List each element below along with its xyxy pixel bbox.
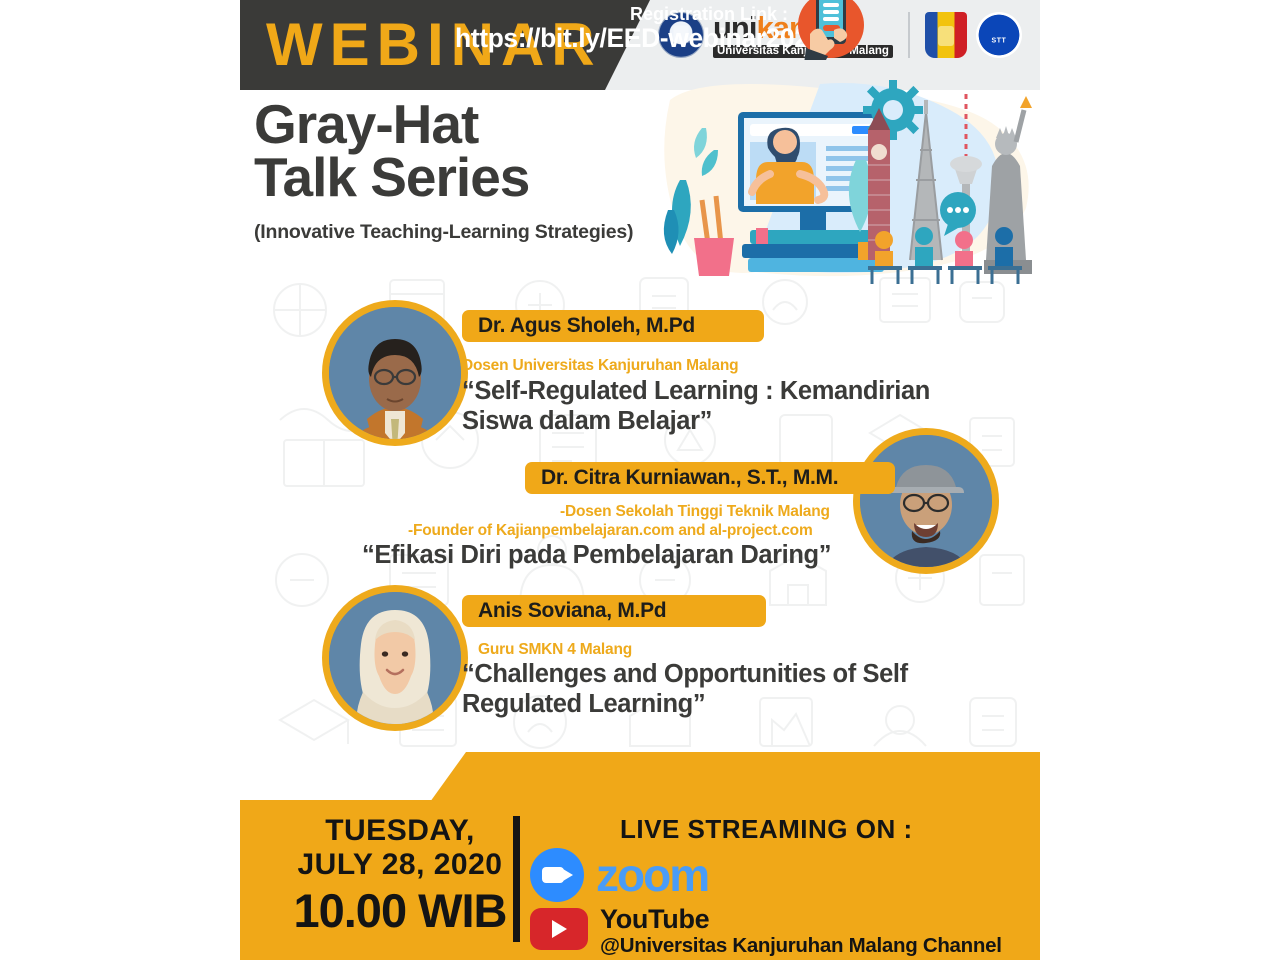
speaker-quote-1: “Self-Regulated Learning : Kemandirian S…: [462, 376, 992, 436]
title-line-2: Talk Series: [254, 151, 674, 204]
event-time: 10.00 WIB: [280, 883, 520, 939]
speaker-quote-1-line1: “Self-Regulated Learning : Kemandirian: [462, 376, 992, 406]
poster-footer: TUESDAY, JULY 28, 2020 10.00 WIB LIVE ST…: [240, 800, 1040, 960]
tablet-hand-icon: [796, 0, 866, 60]
event-day: TUESDAY,: [280, 814, 520, 848]
stt-malang-shield-icon: [925, 12, 967, 58]
speaker-affiliation-3: Guru SMKN 4 Malang: [478, 641, 632, 659]
youtube-channel-name: @Universitas Kanjuruhan Malang Channel: [600, 935, 1002, 957]
speaker-name-2: Dr. Citra Kurniawan., S.T., M.M.: [541, 466, 838, 490]
event-date-block: TUESDAY, JULY 28, 2020 10.00 WIB: [280, 814, 520, 940]
speaker-name-3: Anis Soviana, M.Pd: [478, 599, 666, 623]
speaker-name-1: Dr. Agus Sholeh, M.Pd: [478, 314, 695, 338]
logo-divider: [908, 12, 910, 58]
youtube-channel-row[interactable]: YouTube @Universitas Kanjuruhan Malang C…: [530, 905, 1002, 957]
footer-divider: [513, 816, 520, 942]
speaker-quote-3-line1: “Challenges and Opportunities of Self: [462, 659, 992, 689]
poster-title-block: Gray-Hat Talk Series (Innovative Teachin…: [254, 98, 674, 244]
speaker-name-bar-1: Dr. Agus Sholeh, M.Pd: [462, 310, 764, 342]
speaker-quote-2-line1: “Efikasi Diri pada Pembelajaran Daring”: [362, 540, 982, 570]
speaker-name-bar-2: Dr. Citra Kurniawan., S.T., M.M.: [525, 462, 895, 494]
event-date: JULY 28, 2020: [280, 848, 520, 882]
speaker-photo-agus-sholeh: [322, 300, 468, 446]
zoom-icon: [530, 848, 584, 902]
online-learning-illustration: [640, 70, 1040, 285]
speaker-quote-2: “Efikasi Diri pada Pembelajaran Daring”: [362, 540, 982, 570]
registration-banner: [430, 752, 1040, 802]
youtube-label: YouTube: [600, 905, 1002, 933]
stt-emblem-icon: [976, 12, 1022, 58]
title-line-1: Gray-Hat: [254, 98, 674, 151]
speaker-photo-anis-soviana: [322, 585, 468, 731]
speaker-quote-3-line2: Regulated Learning”: [462, 689, 992, 719]
speaker-affiliation-2a: -Dosen Sekolah Tinggi Teknik Malang: [560, 503, 830, 521]
registration-label: Registration Link :: [630, 4, 788, 25]
youtube-icon: [530, 908, 588, 950]
speaker-affiliation-2b: -Founder of Kajianpembelajaran.com and a…: [408, 522, 813, 540]
speaker-quote-3: “Challenges and Opportunities of Self Re…: [462, 659, 992, 719]
webinar-poster: WEBINAR unikama Universitas Kanjuruhan M…: [240, 0, 1040, 960]
live-streaming-label: LIVE STREAMING ON :: [620, 814, 913, 845]
title-subtitle: (Innovative Teaching-Learning Strategies…: [254, 221, 674, 244]
zoom-channel-row[interactable]: zoom: [530, 848, 708, 902]
speaker-affiliation-1: Dosen Universitas Kanjuruhan Malang: [462, 357, 738, 375]
speaker-name-bar-3: Anis Soviana, M.Pd: [462, 595, 766, 627]
registration-url[interactable]: https://bit.ly/EED-webinar2020: [455, 23, 823, 54]
zoom-label: zoom: [596, 852, 708, 898]
